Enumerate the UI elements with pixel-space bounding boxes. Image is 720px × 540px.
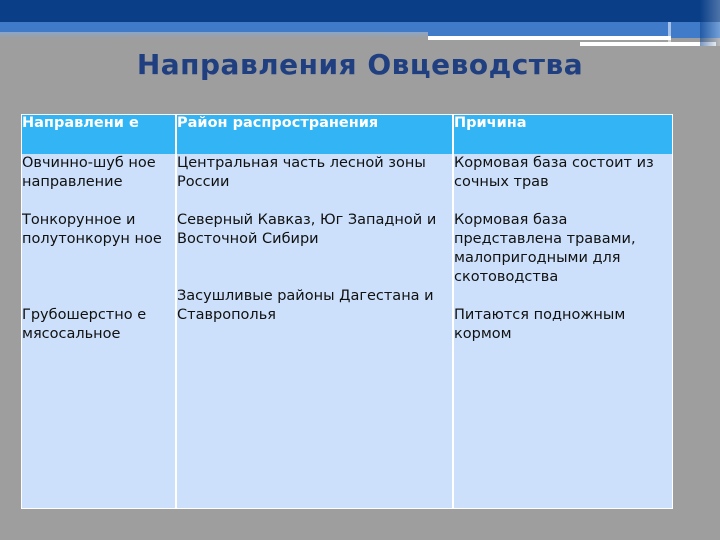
reason-item-1: Кормовая база состоит из сочных трав (454, 154, 672, 192)
directions-table: Направлени е Район распространения Причи… (22, 115, 672, 508)
region-item-2: Северный Кавказ, Юг Западной и Восточной… (177, 211, 452, 249)
banner-white-line-lower (580, 42, 716, 46)
direction-spacer-1 (22, 192, 175, 211)
column-header-direction: Направлени е (22, 115, 176, 154)
region-spacer-2 (177, 249, 452, 287)
region-spacer-1 (177, 192, 452, 211)
banner-dark-band (0, 0, 720, 22)
column-header-region: Район распространения (176, 115, 453, 154)
table-header-row: Направлени е Район распространения Причи… (22, 115, 672, 154)
cell-reasons: Кормовая база состоит из сочных трав Кор… (453, 154, 672, 508)
page-title: Направления Овцеводства (0, 48, 720, 82)
direction-spacer-2 (22, 249, 175, 306)
reason-spacer-2 (454, 287, 672, 306)
table-row: Овчинно-шуб ное направление Тонкорунное … (22, 154, 672, 508)
direction-item-1: Овчинно-шуб ное направление (22, 154, 175, 192)
table-header: Направлени е Район распространения Причи… (22, 115, 672, 154)
column-header-reason: Причина (453, 115, 672, 154)
banner-right-edge-highlight (700, 0, 720, 46)
slide-top-banner (0, 0, 720, 46)
region-item-1: Центральная часть лесной зоны России (177, 154, 452, 192)
cell-regions: Центральная часть лесной зоны России Сев… (176, 154, 453, 508)
table-body: Овчинно-шуб ное направление Тонкорунное … (22, 154, 672, 508)
cell-directions: Овчинно-шуб ное направление Тонкорунное … (22, 154, 176, 508)
banner-white-line-upper (428, 36, 671, 40)
direction-item-3: Грубошерстно е мясосальное (22, 306, 175, 344)
reason-spacer-1 (454, 192, 672, 211)
direction-item-2: Тонкорунное и полутонкорун ное (22, 211, 175, 249)
reason-item-3: Питаются подножным кормом (454, 306, 672, 344)
reason-item-2: Кормовая база представлена травами, мало… (454, 211, 672, 287)
region-item-3: Засушливые районы Дагестана и Ставрополь… (177, 287, 452, 325)
